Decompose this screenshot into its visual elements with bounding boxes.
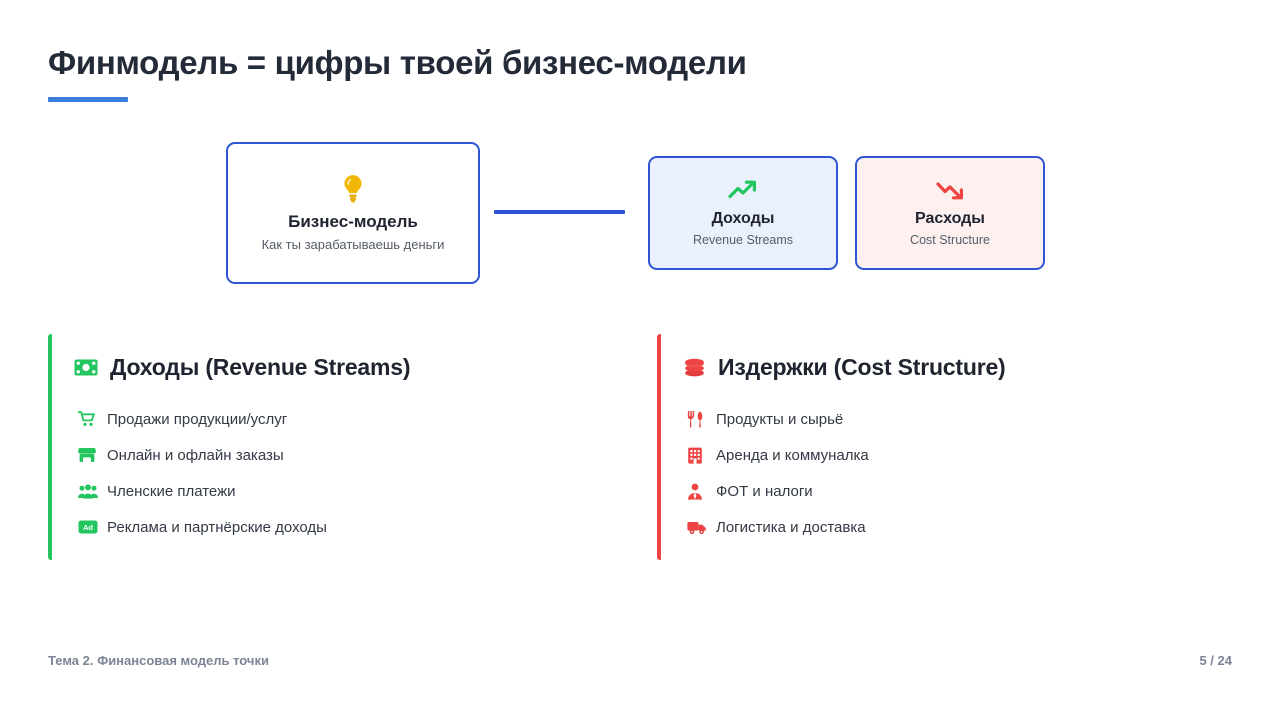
store-icon — [78, 447, 96, 463]
cost-card-title: Расходы — [915, 209, 985, 228]
list-item[interactable]: Продукты и сырьё — [661, 401, 1217, 437]
cost-card[interactable]: Расходы Cost Structure — [855, 156, 1045, 270]
business-model-diagram: Бизнес-модель Как ты зарабатываешь деньг… — [0, 140, 1280, 290]
truck-icon — [687, 520, 705, 535]
cost-card-subtitle: Cost Structure — [910, 233, 990, 247]
person-tie-icon — [687, 483, 705, 500]
ad-badge-icon: Ad — [78, 520, 96, 534]
list-item-label: Логистика и доставка — [716, 519, 866, 536]
trending-up-icon — [728, 179, 758, 201]
page-title: Финмодель = цифры твоей бизнес-модели — [48, 44, 747, 82]
page-indicator: 5 / 24 — [1199, 653, 1232, 668]
revenue-card-subtitle: Revenue Streams — [693, 233, 793, 247]
list-item[interactable]: Членские платежи — [52, 473, 608, 509]
list-item-label: Продукты и сырьё — [716, 411, 843, 428]
list-item[interactable]: Логистика и доставка — [661, 509, 1217, 545]
revenue-column-title: Доходы (Revenue Streams) — [110, 354, 410, 381]
list-item-label: Продажи продукции/услуг — [107, 411, 287, 428]
business-model-card[interactable]: Бизнес-модель Как ты зарабатываешь деньг… — [226, 142, 480, 284]
cost-column-title: Издержки (Cost Structure) — [718, 354, 1006, 381]
title-accent-bar — [48, 97, 128, 102]
list-item-label: ФОТ и налоги — [716, 483, 813, 500]
cost-list: Продукты и сырьё — [661, 401, 1217, 545]
lightbulb-icon — [340, 174, 366, 204]
list-item-label: Онлайн и офлайн заказы — [107, 447, 284, 464]
connector-line — [494, 210, 625, 214]
cost-column-header: Издержки (Cost Structure) — [661, 354, 1217, 381]
footer-topic-label: Тема 2. Финансовая модель точки — [48, 653, 269, 668]
coins-stack-icon — [683, 358, 706, 377]
list-item[interactable]: Аренда и коммуналка — [661, 437, 1217, 473]
business-model-card-subtitle: Как ты зарабатываешь деньги — [262, 237, 445, 252]
shopping-cart-icon — [78, 411, 96, 427]
list-item-label: Аренда и коммуналка — [716, 447, 869, 464]
business-model-card-title: Бизнес-модель — [288, 212, 418, 232]
cost-column: Издержки (Cost Structure) Продукты и сыр… — [657, 334, 1217, 560]
list-item-label: Членские платежи — [107, 483, 236, 500]
svg-text:Ad: Ad — [83, 523, 93, 532]
revenue-column: Доходы (Revenue Streams) Продажи продукц… — [48, 334, 608, 560]
list-item[interactable]: ФОТ и налоги — [661, 473, 1217, 509]
people-group-icon — [78, 484, 96, 499]
revenue-card[interactable]: Доходы Revenue Streams — [648, 156, 838, 270]
revenue-column-header: Доходы (Revenue Streams) — [52, 354, 608, 381]
list-item[interactable]: Онлайн и офлайн заказы — [52, 437, 608, 473]
list-item[interactable]: Продажи продукции/услуг — [52, 401, 608, 437]
money-bill-icon — [74, 359, 98, 376]
list-item[interactable]: Ad Реклама и партнёрские доходы — [52, 509, 608, 545]
revenue-card-title: Доходы — [712, 209, 775, 228]
fork-knife-icon — [687, 411, 705, 428]
list-item-label: Реклама и партнёрские доходы — [107, 519, 327, 536]
trending-down-icon — [935, 179, 965, 201]
revenue-list: Продажи продукции/услуг Онлайн и офлайн … — [52, 401, 608, 545]
building-icon — [687, 447, 705, 464]
